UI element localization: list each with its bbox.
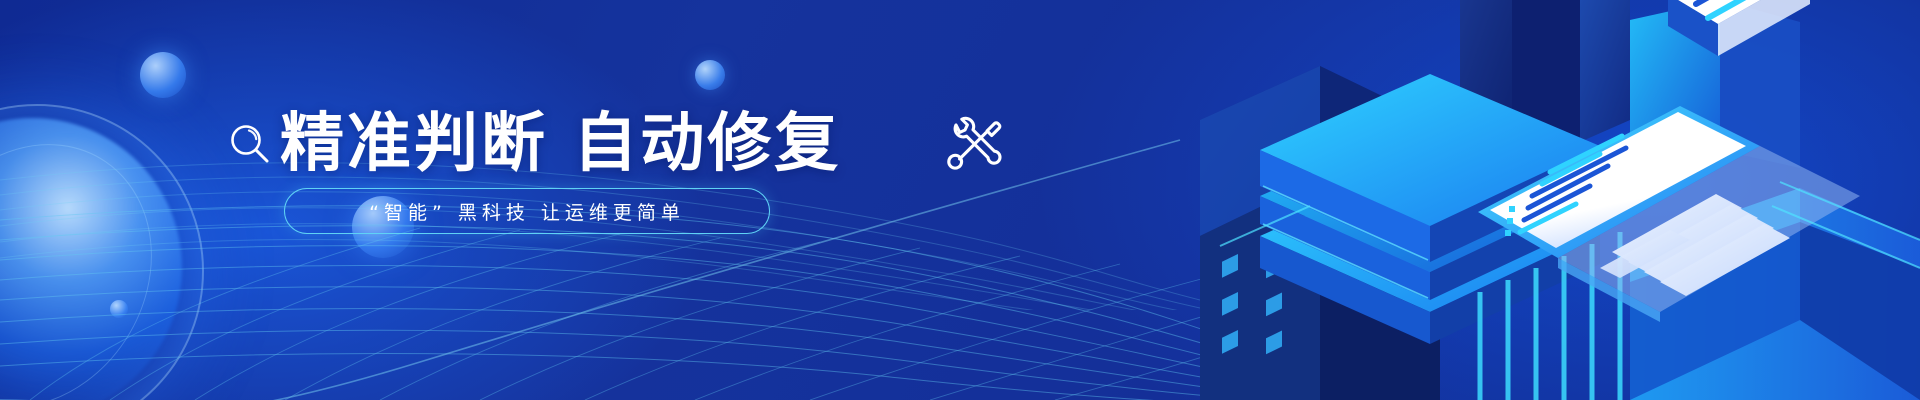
subtitle-pill: “智能” 黑科技 让运维更简单 [284, 188, 770, 234]
page-title: 精准判断 自动修复 [280, 104, 841, 184]
floating-sphere [110, 300, 128, 318]
floating-sphere [695, 60, 725, 90]
wrench-screwdriver-icon [943, 114, 1007, 178]
glowing-globe [0, 118, 182, 400]
search-icon [228, 122, 272, 166]
floating-sphere [140, 52, 186, 98]
isometric-illustration [1160, 0, 1920, 400]
headline-block: 精准判断 自动修复 [228, 104, 1048, 184]
marketing-banner: 精准判断 自动修复 “智能” 黑科技 让运维更简单 [0, 0, 1920, 400]
subtitle-text: “智能” 黑科技 让运维更简单 [369, 198, 685, 225]
globe-inner-ring [0, 114, 164, 400]
globe-outer-ring [0, 104, 204, 400]
